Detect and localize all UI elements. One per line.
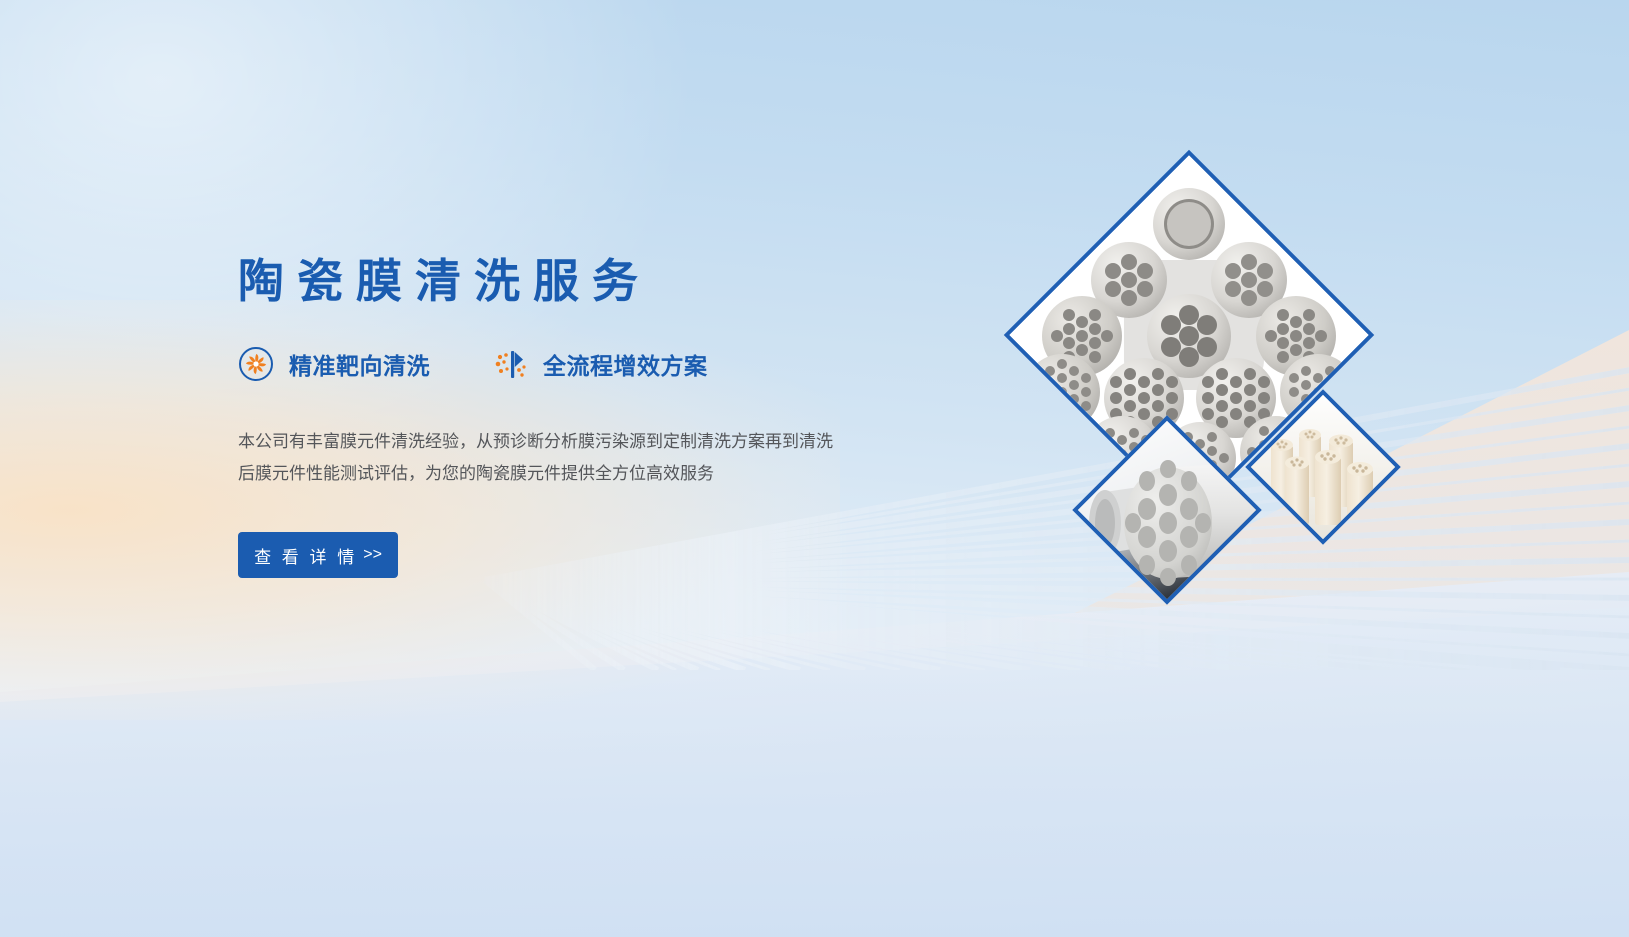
flag-process-icon: [492, 346, 528, 382]
feature-item-full-process: 全流程增效方案: [492, 346, 708, 382]
chevron-double-right-icon: >>: [363, 546, 382, 564]
feature-item-precision-cleaning: 精准靶向清洗: [238, 346, 430, 382]
feature-label: 全流程增效方案: [543, 347, 708, 381]
feature-label: 精准靶向清洗: [289, 347, 430, 381]
description: 本公司有丰富膜元件清洗经验，从预诊断分析膜污染源到定制清洗方案再到清洗 后膜元件…: [238, 426, 908, 490]
hero-content: 陶瓷膜清洗服务: [238, 258, 938, 578]
view-details-label: 查 看 详 情: [254, 543, 357, 568]
pinwheel-flower-icon: [238, 346, 274, 382]
description-line: 后膜元件性能测试评估，为您的陶瓷膜元件提供全方位高效服务: [238, 458, 908, 490]
feature-list: 精准靶向清洗: [238, 346, 938, 382]
page-title: 陶瓷膜清洗服务: [238, 258, 938, 304]
description-line: 本公司有丰富膜元件清洗经验，从预诊断分析膜污染源到定制清洗方案再到清洗: [238, 426, 908, 458]
hero-banner: 陶瓷膜清洗服务: [0, 0, 1629, 937]
view-details-button[interactable]: 查 看 详 情 >>: [238, 532, 398, 578]
